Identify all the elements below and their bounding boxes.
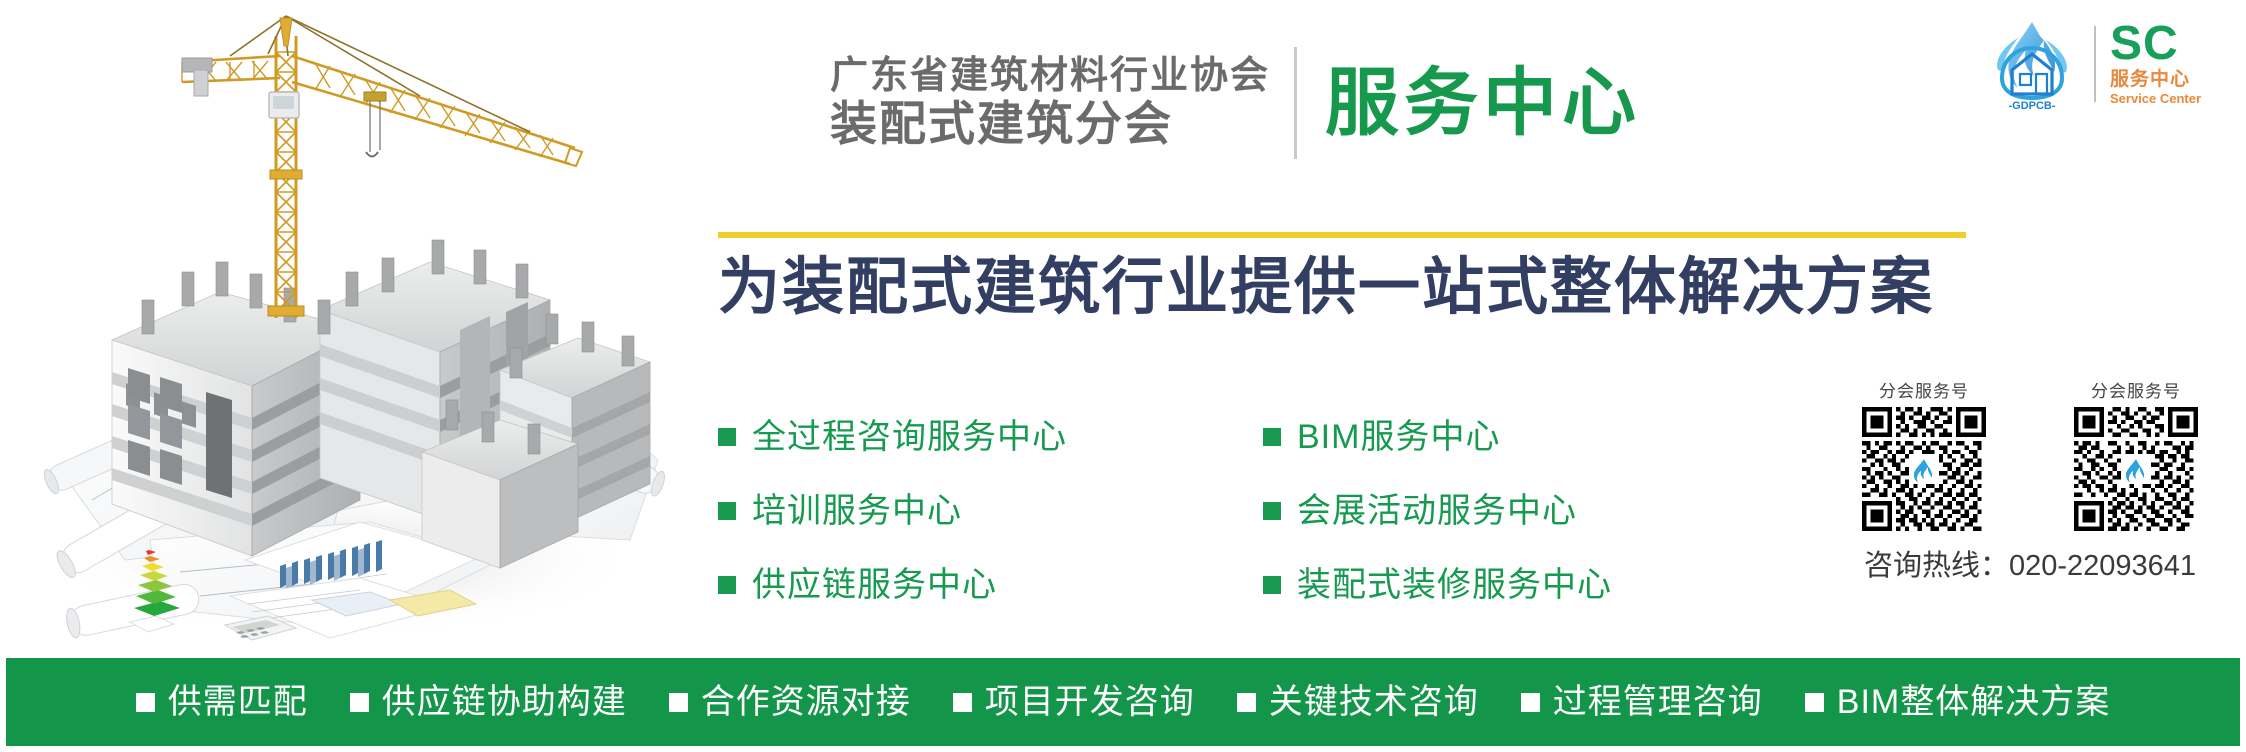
square-bullet-icon — [1263, 502, 1281, 520]
square-bullet-icon — [350, 693, 369, 712]
bottom-service-bar: 供需匹配 供应链协助构建 合作资源对接 项目开发咨询 关键技术咨询 过程管理咨询… — [6, 658, 2240, 746]
square-bullet-icon — [1521, 693, 1540, 712]
service-item-label: 供应链服务中心 — [752, 568, 997, 602]
square-bullet-icon — [1263, 576, 1281, 594]
service-item[interactable]: 培训服务中心 — [718, 474, 1263, 548]
service-item-label: 培训服务中心 — [752, 494, 962, 528]
qr-code-icon[interactable] — [2074, 407, 2198, 531]
association-name-line1: 广东省建筑材料行业协会 — [830, 55, 1270, 98]
service-list-left: 全过程咨询服务中心 培训服务中心 供应链服务中心 — [718, 400, 1263, 622]
title-divider — [1294, 47, 1297, 159]
bar-item[interactable]: BIM整体解决方案 — [1805, 685, 2110, 719]
service-item-label: 会展活动服务中心 — [1297, 494, 1577, 528]
bar-item-label: 供需匹配 — [168, 685, 308, 719]
bar-item[interactable]: 过程管理咨询 — [1521, 685, 1763, 719]
square-bullet-icon — [953, 693, 972, 712]
qr-caption: 分会服务号 — [2050, 383, 2222, 400]
main-slogan: 为装配式建筑行业提供一站式整体解决方案 — [718, 252, 1988, 323]
logo-en-label: Service Center — [2110, 91, 2201, 107]
house-flame-logo-icon: -GDPCB- — [1984, 16, 2080, 112]
qr-caption: 分会服务号 — [1838, 383, 2010, 400]
logo-mark-text: -GDPCB- — [2008, 100, 2055, 112]
square-bullet-icon — [1263, 428, 1281, 446]
construction-illustration — [30, 0, 670, 650]
association-name-line2: 装配式建筑分会 — [830, 98, 1270, 151]
square-bullet-icon — [1805, 693, 1824, 712]
qr-cell: 分会服务号 — [2050, 383, 2222, 531]
square-bullet-icon — [136, 693, 155, 712]
header-title-block: 广东省建筑材料行业协会 装配式建筑分会 服务中心 — [830, 38, 1970, 168]
construction-photo — [30, 0, 670, 650]
banner-root: 广东省建筑材料行业协会 装配式建筑分会 服务中心 -GDPCB- — [0, 0, 2246, 752]
service-item[interactable]: 装配式装修服务中心 — [1263, 548, 1808, 622]
service-list-right: BIM服务中心 会展活动服务中心 装配式装修服务中心 — [1263, 400, 1808, 622]
service-item-label: 全过程咨询服务中心 — [752, 420, 1067, 454]
bar-item[interactable]: 供需匹配 — [136, 685, 308, 719]
qr-contact-block: 分会服务号 — [1838, 383, 2222, 584]
logo-cn-label: 服务中心 — [2110, 69, 2190, 92]
logo-separator — [2094, 26, 2096, 102]
service-center-heading: 服务中心 — [1325, 66, 1641, 140]
service-item[interactable]: 会展活动服务中心 — [1263, 474, 1808, 548]
service-item-label: BIM服务中心 — [1297, 420, 1500, 454]
bar-item-label: 合作资源对接 — [701, 685, 911, 719]
service-item[interactable]: BIM服务中心 — [1263, 400, 1808, 474]
square-bullet-icon — [1237, 693, 1256, 712]
bar-item[interactable]: 合作资源对接 — [669, 685, 911, 719]
qr-cell: 分会服务号 — [1838, 383, 2010, 531]
sc-logo: -GDPCB- SC 服务中心 Service Center — [1984, 14, 2234, 114]
association-name: 广东省建筑材料行业协会 装配式建筑分会 — [830, 55, 1294, 150]
square-bullet-icon — [718, 576, 736, 594]
square-bullet-icon — [669, 693, 688, 712]
bar-item-label: 项目开发咨询 — [985, 685, 1195, 719]
service-item[interactable]: 全过程咨询服务中心 — [718, 400, 1263, 474]
bar-item-label: BIM整体解决方案 — [1837, 685, 2110, 719]
square-bullet-icon — [718, 502, 736, 520]
qr-code-icon[interactable] — [1862, 407, 1986, 531]
logo-sc-text: SC — [2110, 21, 2179, 67]
bar-item[interactable]: 关键技术咨询 — [1237, 685, 1479, 719]
bar-item[interactable]: 项目开发咨询 — [953, 685, 1195, 719]
bar-item[interactable]: 供应链协助构建 — [350, 685, 627, 719]
service-item-label: 装配式装修服务中心 — [1297, 568, 1612, 602]
logo-wordmark: SC 服务中心 Service Center — [2110, 21, 2201, 107]
hotline-text: 咨询热线：020-22093641 — [1838, 542, 2222, 584]
qr-row: 分会服务号 — [1838, 383, 2222, 531]
bar-item-label: 供应链协助构建 — [382, 685, 627, 719]
square-bullet-icon — [718, 428, 736, 446]
yellow-divider-rule — [718, 232, 1966, 238]
bar-item-label: 关键技术咨询 — [1269, 685, 1479, 719]
bar-item-label: 过程管理咨询 — [1553, 685, 1763, 719]
service-item[interactable]: 供应链服务中心 — [718, 548, 1263, 622]
service-center-lists: 全过程咨询服务中心 培训服务中心 供应链服务中心 BIM服务中心 会展活动服务中… — [718, 400, 1808, 622]
